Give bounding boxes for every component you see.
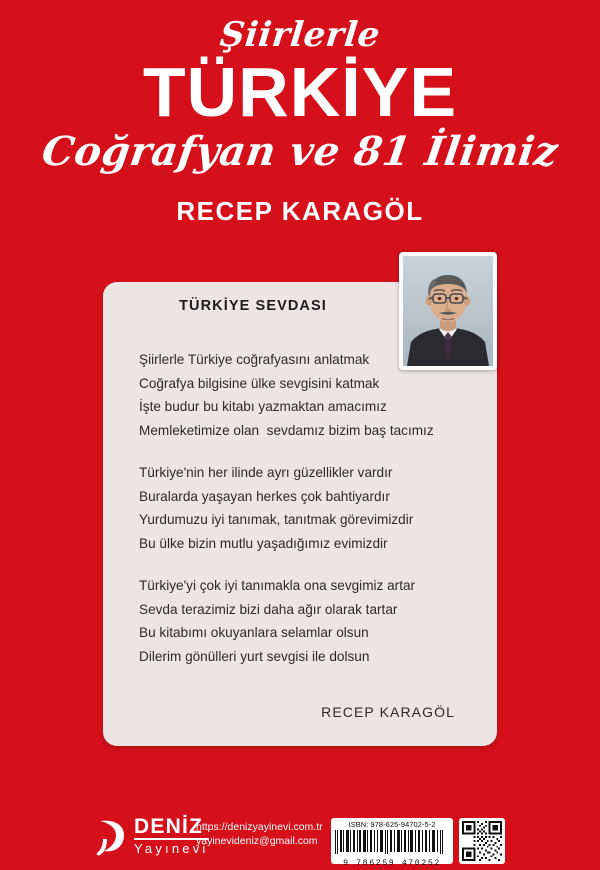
cover-title: TÜRKİYE [0,57,600,127]
poem-line: Bu kitabımı okuyanlara selamlar olsun [139,621,469,645]
poem-line: Dilerim gönülleri yurt sevgisi ile dolsu… [139,645,469,669]
barcode-digits: 9 786259 470252 [334,859,450,869]
cover-footer: DENİZ Yayınevi https://denizyayinevi.com… [0,810,600,870]
cover-kicker: Şiirlerle [0,18,600,52]
book-back-cover: Şiirlerle TÜRKİYE Coğrafyan ve 81 İlimiz… [0,0,600,870]
author-photo [403,256,493,366]
cover-header: Şiirlerle TÜRKİYE Coğrafyan ve 81 İlimiz… [0,0,600,245]
author-portrait-illustration [403,256,493,366]
poem-line: Türkiye'yi çok iyi tanımakla ona sevgimi… [139,574,469,598]
publisher-logo-block: DENİZ Yayınevi [94,816,209,857]
isbn-label: ISBN: 978-625-94702-5-2 [334,820,450,829]
poem-stanza: Türkiye'nin her ilinde ayrı güzellikler … [139,461,469,555]
poem-line: Yurdumuzu iyi tanımak, tanıtmak görevimi… [139,508,469,532]
poem-line: Memleketimize olan sevdamız bizim baş ta… [139,419,469,443]
barcode-icon [334,830,446,854]
poem-line: Coğrafya bilgisine ülke sevgisini katmak [139,372,469,396]
poem-line: Buralarda yaşayan herkes çok bahtiyardır [139,485,469,509]
poem-line: Türkiye'nin her ilinde ayrı güzellikler … [139,461,469,485]
poem-stanza: Türkiye'yi çok iyi tanımakla ona sevgimi… [139,574,469,668]
poem-signature: RECEP KARAGÖL [321,704,455,720]
poem-line: Bu ülke bizin mutlu yaşadığımız evimizdi… [139,532,469,556]
deniz-d-monogram-icon [94,817,128,857]
publisher-website[interactable]: https://denizyayinevi.com.tr [196,820,323,834]
poem-line: İşte budur bu kitabı yazmaktan amacımız [139,395,469,419]
publisher-email[interactable]: yayinevideniz@gmail.com [196,834,323,848]
author-photo-frame [399,252,497,370]
qr-code-icon [462,821,502,861]
cover-author-name: RECEP KARAGÖL [0,198,600,224]
poem-line: Sevda terazimiz bizi daha ağır olarak ta… [139,598,469,622]
poem-title: TÜRKİYE SEVDASI [103,298,403,314]
poem-body: Şiirlerle Türkiye coğrafyasını anlatmak … [139,348,469,668]
publisher-contact: https://denizyayinevi.com.tr yayineviden… [196,820,323,848]
qr-code-block[interactable] [459,818,505,864]
isbn-barcode-block: ISBN: 978-625-94702-5-2 [331,818,453,864]
cover-subtitle: Coğrafyan ve 81 İlimiz [0,132,600,172]
